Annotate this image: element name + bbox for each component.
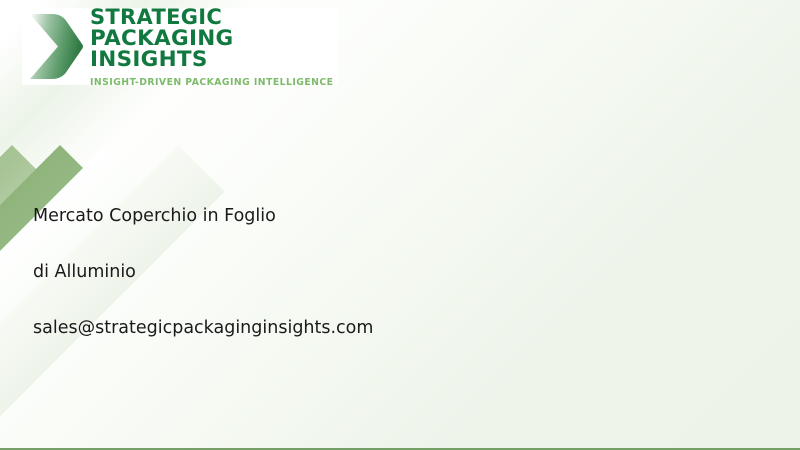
- logo-tagline: INSIGHT-DRIVEN PACKAGING INTELLIGENCE: [90, 77, 338, 85]
- slide-canvas: STRATEGIC PACKAGING INSIGHTS INSIGHT-DRI…: [0, 0, 800, 450]
- chevron-band-light-upper: [788, 0, 800, 150]
- chevron-band-mid-upper: [740, 0, 800, 150]
- report-title-line-1: Mercato Coperchio in Foglio: [33, 205, 463, 227]
- report-title-line-2: di Alluminio: [33, 261, 463, 283]
- chevron-right-icon: [22, 8, 84, 85]
- logo-line-2: PACKAGING INSIGHTS: [90, 28, 338, 70]
- chevron-band-inner-tint-upper: [556, 0, 800, 150]
- chevron-band-dark-upper: [694, 0, 800, 150]
- chevron-band-inner-fade-upper: [622, 0, 800, 150]
- logo: STRATEGIC PACKAGING INSIGHTS INSIGHT-DRI…: [22, 8, 338, 85]
- slide-text-block: Mercato Coperchio in Foglio di Alluminio…: [33, 205, 463, 339]
- logo-line-1: STRATEGIC: [90, 8, 338, 28]
- contact-email: sales@strategicpackaginginsights.com: [33, 317, 463, 339]
- logo-wordmark: STRATEGIC PACKAGING INSIGHTS INSIGHT-DRI…: [84, 8, 338, 85]
